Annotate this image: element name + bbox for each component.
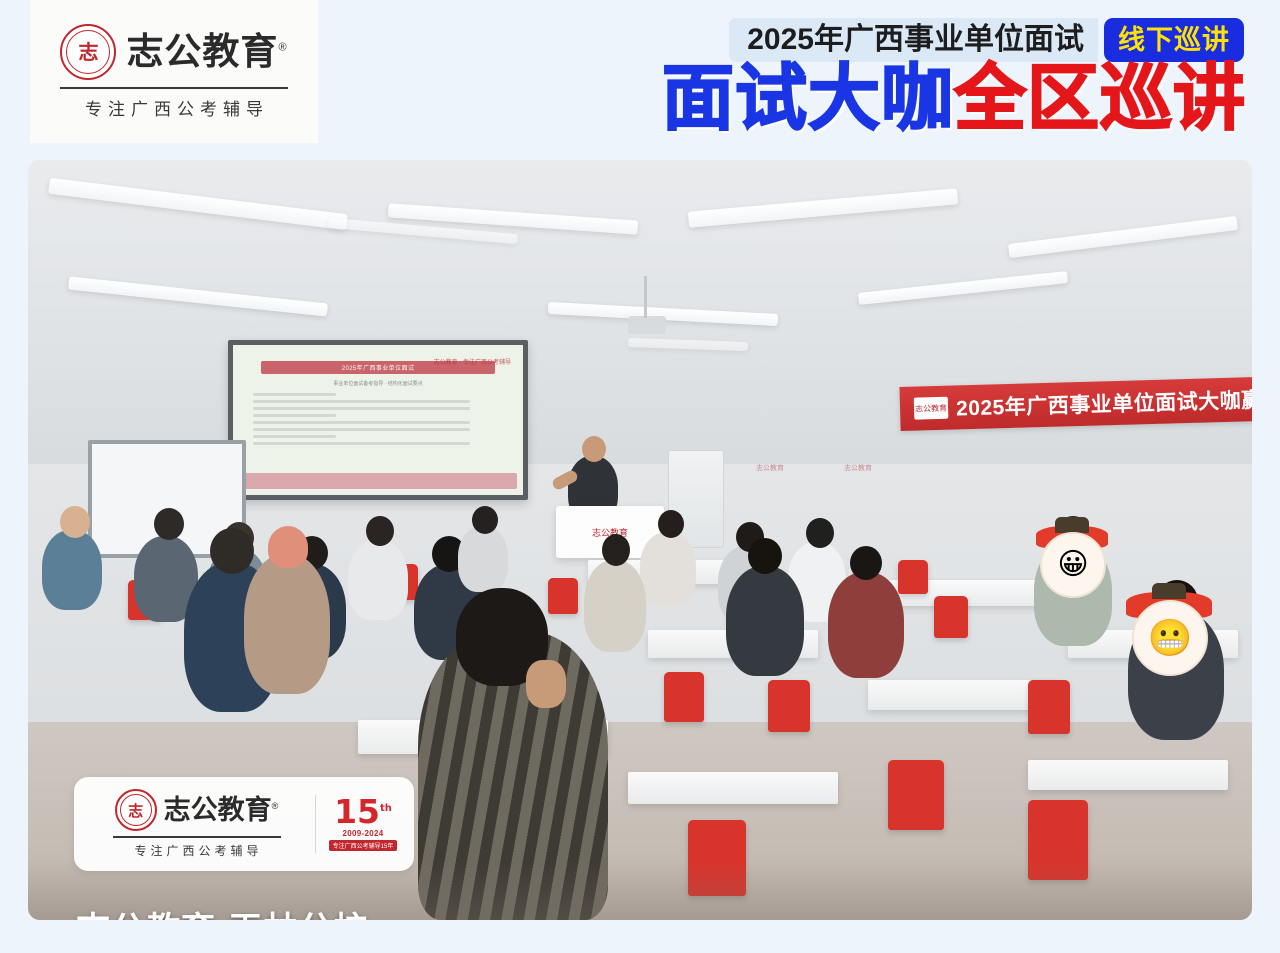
wall-banner-logo-text: 志公教育 [915,402,947,414]
student-head [850,546,882,580]
kicker-text: 2025年广西事业单位面试 [747,25,1084,55]
instructor-head [582,436,606,462]
student-cap-icon [268,526,308,568]
watermark-vertical-divider [315,795,316,853]
anniversary-ribbon: 专注广西公考辅导15年 [329,840,398,851]
slide-footer-bar [239,473,517,489]
student [584,560,646,652]
student-foreground-hand [526,660,566,708]
registered-mark-icon: ® [278,42,287,54]
student [726,566,804,676]
student-head [472,506,498,534]
student-head [60,506,90,538]
student [42,530,102,610]
student-head [748,538,782,574]
offline-tour-badge-text: 线下巡讲 [1118,27,1230,54]
watermark-brand-name-text: 志公教育 [164,795,272,825]
slide-text-line [253,400,470,403]
chair [898,560,928,594]
brand-name: 志公教育® [126,33,287,70]
anniversary-number: 15 [334,792,380,831]
student [828,572,904,678]
chair [888,760,944,830]
wall-decal: 志公教育 [828,460,888,476]
wall-banner-logo: 志公教育 [914,397,949,420]
face-sticker-icon: 😀 [1040,532,1106,598]
student-head [806,518,834,548]
student [348,540,408,620]
projector [628,316,666,334]
watermark-brand-row: 志 志公教育® [115,789,279,831]
slide-text-line [253,414,336,417]
watermark-tagline: 专注广西公考辅导 [130,842,262,859]
watermark-seal-char: 志 [128,800,143,821]
brand-tagline: 专注广西公考辅导 [79,95,269,120]
wall-decal: 志公教育 [740,460,800,476]
watermark-seal-icon: 志 [115,789,157,831]
slide-text-line [253,407,470,410]
slide-text-line [253,442,470,445]
event-photo: 2025年广西事业单位面试 事业单位面试备考指导 · 结构化面试要点 志公教育 … [28,160,1252,920]
student [458,526,508,592]
desk [1028,760,1228,790]
slide-text-line [253,435,336,438]
slide-subtitle: 事业单位面试备考指导 · 结构化面试要点 [239,380,517,387]
watermark-brand-name: 志公教育® [164,797,279,824]
student-foreground [244,554,330,694]
chair [1028,680,1070,734]
watermark-brand: 志 志公教育® 专注广西公考辅导 [88,789,305,859]
desk [628,772,838,804]
student-head [154,508,184,540]
main-title-blue: 面试大咖 [662,62,954,134]
watermark-divider [113,836,281,838]
slide-text-line [253,393,336,396]
student-head [658,510,684,538]
wall-banner-text: 2025年广西事业单位面试大咖赢面试 [956,383,1252,423]
projection-screen: 2025年广西事业单位面试 事业单位面试备考指导 · 结构化面试要点 志公教育 … [228,340,528,500]
headline-area: 2025年广西事业单位面试 线下巡讲 面试大咖 全区巡讲 [330,0,1280,150]
brand-divider [60,87,288,89]
slide-text-line [253,421,470,424]
watermark-registered-mark-icon: ® [272,801,279,811]
brand-row: 志 志公教育® [60,24,287,80]
student-head [366,516,394,546]
poster-root: 志 志公教育® 专注广西公考辅导 2025年广西事业单位面试 线下巡讲 面试大咖… [0,0,1280,953]
watermark-logo-card: 志 志公教育® 专注广西公考辅导 15th 2009-2024 专注广西公考辅导… [74,777,414,871]
student-head [602,534,630,566]
chair [934,596,968,638]
slide-logo: 志公教育 · 专注广西公考辅导 [434,357,511,366]
student [640,532,696,606]
student-foreground-head [210,528,254,574]
brand-seal-icon: 志 [60,24,116,80]
chair [768,680,810,732]
branch-name: 志公教育-玉林分校 [76,902,368,920]
chair [548,578,578,614]
main-title-red: 全区巡讲 [954,62,1246,134]
slide-header-text: 2025年广西事业单位面试 [342,363,415,372]
brand-name-text: 志公教育 [126,31,278,72]
brand-seal-char: 志 [78,42,98,62]
anniversary-suffix: th [380,803,392,814]
anniversary-badge: 15th 2009-2024 专注广西公考辅导15年 [326,785,400,863]
brand-logo-box: 志 志公教育® 专注广西公考辅导 [30,0,318,143]
projector-mount [644,276,647,318]
main-title: 面试大咖 全区巡讲 [662,62,1246,134]
anniversary-number-wrap: 15th [334,797,392,827]
slide-text-line [253,428,470,431]
chair [664,672,704,722]
face-sticker-icon: 😬 [1132,600,1208,676]
